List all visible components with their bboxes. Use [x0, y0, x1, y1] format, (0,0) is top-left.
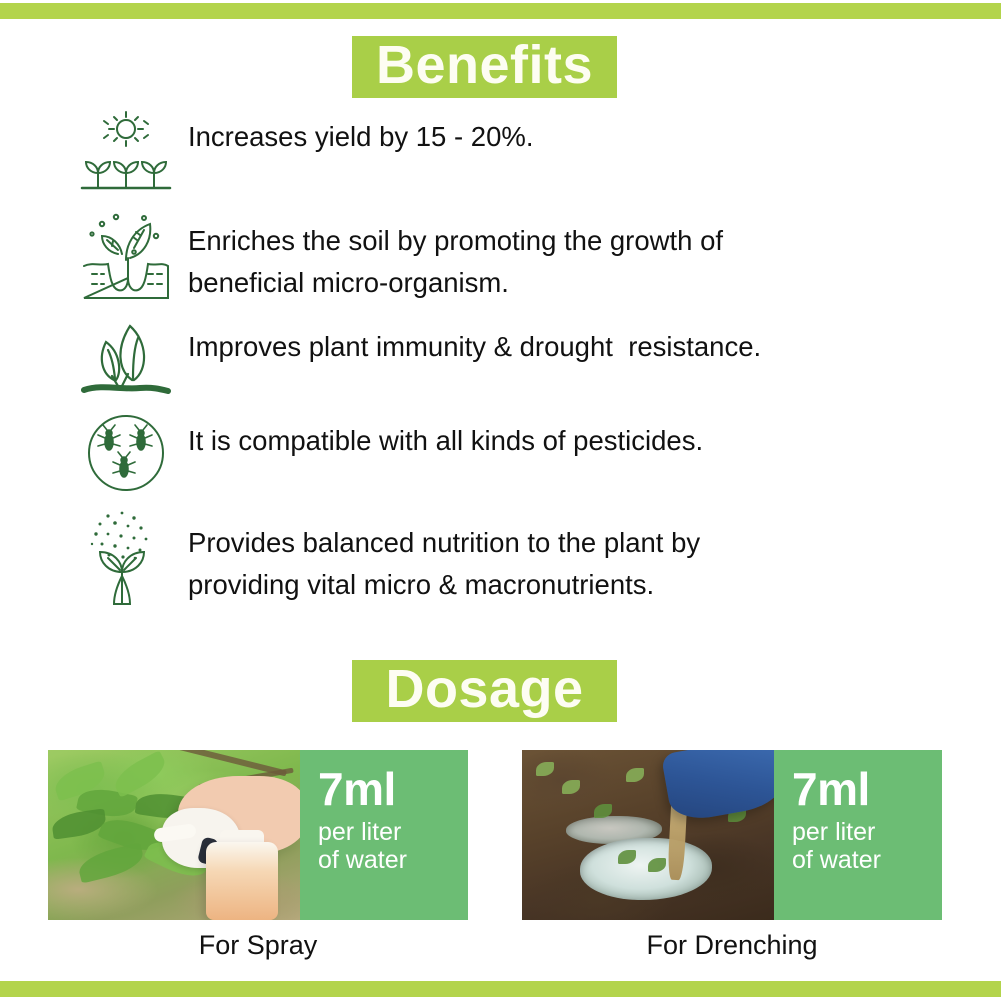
benefit-text: Enriches the soil by promoting the growt… [178, 208, 723, 304]
benefit-text: It is compatible with all kinds of pesti… [178, 412, 703, 462]
dosage-amount: 7ml [792, 766, 942, 812]
benefit-item: Increases yield by 15 - 20%. [74, 108, 934, 194]
spray-bottle [206, 842, 278, 920]
benefit-item: It is compatible with all kinds of pesti… [74, 412, 934, 494]
sprout-with-nutrients-icon [74, 508, 178, 608]
bottom-accent-stripe [0, 981, 1001, 997]
dosage-unit: per liter of water [792, 818, 942, 874]
benefit-item: Enriches the soil by promoting the growt… [74, 208, 934, 304]
hand-spraying-plants-photo [48, 750, 300, 920]
blue-bucket [661, 750, 774, 824]
dosage-amount-panel: 7ml per liter of water [774, 750, 942, 920]
dosage-amount: 7ml [318, 766, 468, 812]
benefits-banner: Benefits [352, 36, 617, 98]
dosage-amount-panel: 7ml per liter of water [300, 750, 468, 920]
benefit-item: Improves plant immunity & drought resist… [74, 318, 934, 398]
dosage-caption-drenching: For Drenching [522, 930, 942, 961]
benefit-text: Provides balanced nutrition to the plant… [178, 508, 700, 606]
insects-in-circle-icon [74, 412, 178, 494]
benefit-text: Increases yield by 15 - 20%. [178, 108, 533, 158]
dosage-banner-label: Dosage [385, 662, 583, 721]
sun-over-seedlings-icon [74, 108, 178, 194]
dosage-caption-spray: For Spray [48, 930, 468, 961]
soil-puddle [580, 838, 712, 900]
bucket-drenching-soil-photo [522, 750, 774, 920]
dosage-card-drenching: 7ml per liter of water [522, 750, 942, 920]
benefits-banner-label: Benefits [376, 38, 593, 97]
plant-in-soil-icon [74, 208, 178, 304]
benefit-item: Provides balanced nutrition to the plant… [74, 508, 934, 608]
two-leaves-icon [74, 318, 178, 398]
benefits-list: Increases yield by 15 - 20%. [74, 108, 934, 622]
dosage-card-spray: 7ml per liter of water [48, 750, 468, 920]
infographic-page: Benefits [0, 0, 1001, 1001]
dosage-unit: per liter of water [318, 818, 468, 874]
benefit-text: Improves plant immunity & drought resist… [178, 318, 761, 368]
dosage-banner: Dosage [352, 660, 617, 722]
top-accent-stripe [0, 3, 1001, 19]
